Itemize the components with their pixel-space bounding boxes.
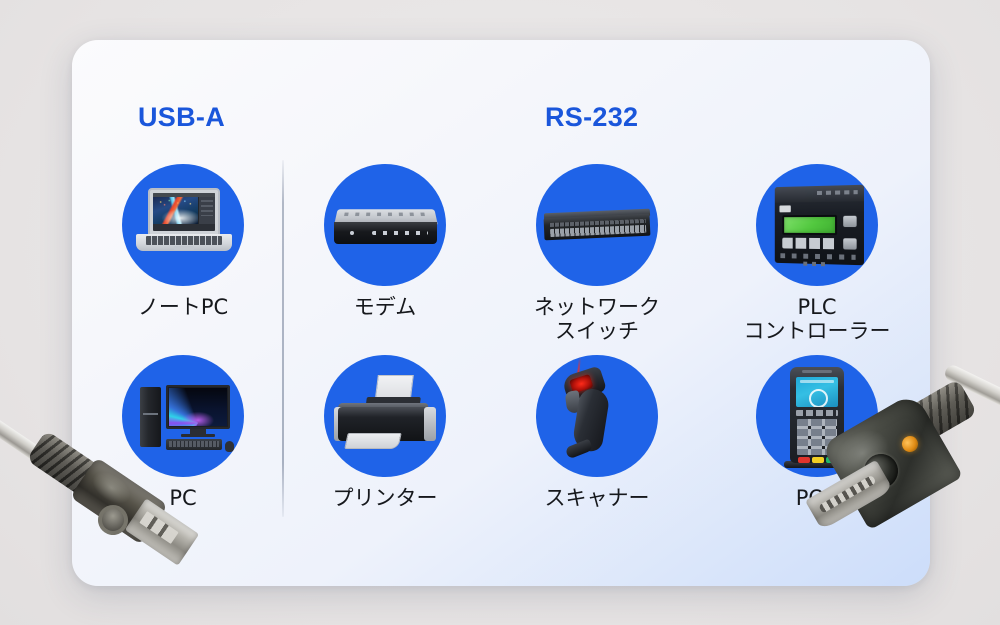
device-label: プリンター — [300, 486, 470, 510]
device-label: モデム — [300, 295, 470, 319]
device-item-scanner: スキャナー — [512, 355, 682, 510]
laptop-icon — [122, 164, 244, 286]
device-item-plc-controller: PLC コントローラー — [732, 164, 902, 344]
device-item-laptop: ノートPC — [98, 164, 268, 319]
device-label: スキャナー — [512, 486, 682, 510]
section-divider — [282, 160, 284, 517]
network-switch-icon — [536, 164, 658, 286]
plc-controller-icon — [756, 164, 878, 286]
printer-icon — [324, 355, 446, 477]
device-item-printer: プリンター — [300, 355, 470, 510]
barcode-scanner-icon — [536, 355, 658, 477]
device-label: ネットワーク スイッチ — [512, 295, 682, 344]
device-label: ノートPC — [98, 295, 268, 319]
section-title-rs-232: RS-232 — [545, 102, 638, 133]
db9-serial-plug-icon — [790, 370, 1000, 625]
device-item-network-switch: ネットワーク スイッチ — [512, 164, 682, 344]
section-title-usb-a: USB-A — [138, 102, 225, 133]
device-label: PLC コントローラー — [732, 295, 902, 344]
usb-a-plug-icon — [0, 385, 240, 625]
device-item-modem: モデム — [300, 164, 470, 319]
diagram-canvas: USB-A RS-232 ノートPC モデム ネットワーク スイッチ — [0, 0, 1000, 625]
modem-icon — [324, 164, 446, 286]
